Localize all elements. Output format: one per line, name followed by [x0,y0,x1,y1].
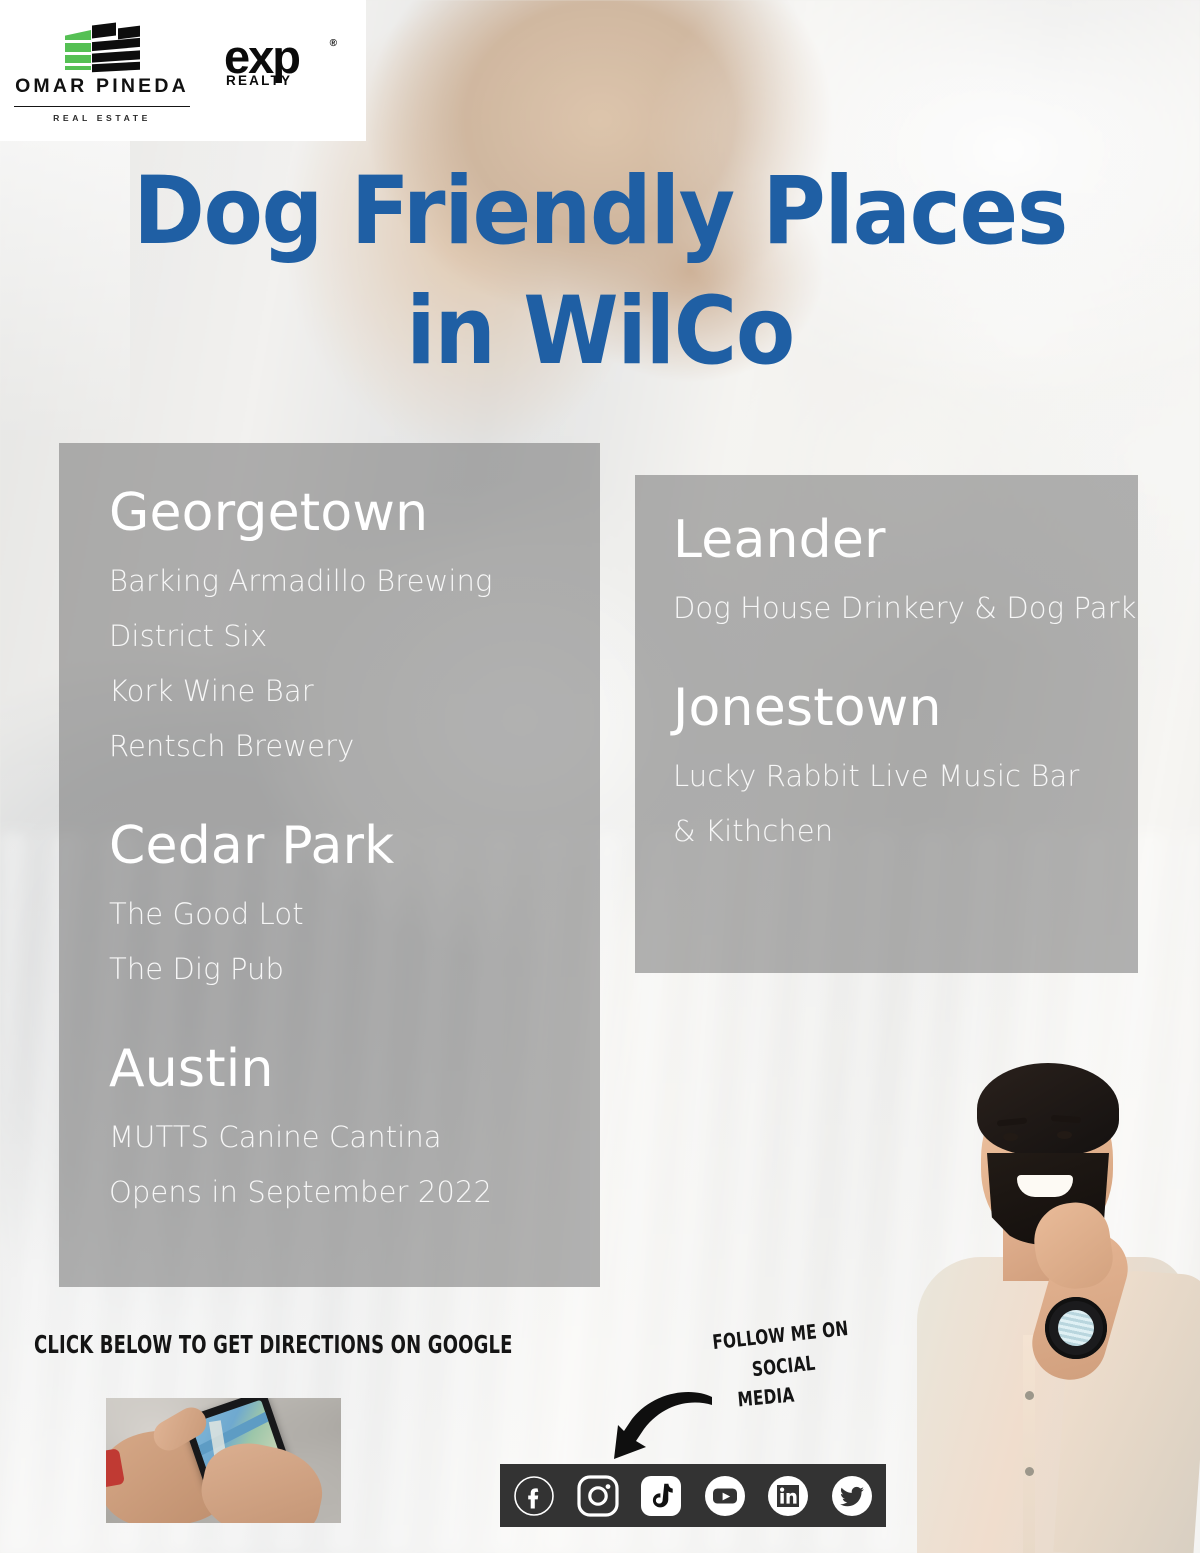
social-links-bar [500,1464,886,1527]
left-listing-panel: Georgetown Barking Armadillo Brewing Dis… [59,443,600,1287]
city-group-jonestown: Jonestown Lucky Rabbit Live Music Bar & … [673,681,1138,846]
youtube-icon[interactable] [702,1473,748,1519]
page-title-line-1: Dog Friendly Places [133,157,1067,266]
exp-realty-logo: exp® REALTY [224,38,328,88]
place-item: The Dig Pub [109,955,600,984]
city-heading: Cedar Park [109,819,600,874]
exp-wordmark-text: exp [224,30,299,83]
place-item: The Good Lot [109,900,600,929]
agent-portrait-photo [895,1035,1200,1553]
city-heading: Leander [673,513,1138,568]
twitter-icon[interactable] [829,1473,875,1519]
building-icon [65,22,139,70]
poster-canvas: OMAR PINEDA REAL ESTATE exp® REALTY Dog … [0,0,1200,1553]
city-heading: Georgetown [109,486,600,541]
omar-pineda-wordmark: OMAR PINEDA [15,77,189,97]
omar-pineda-tagline: REAL ESTATE [53,113,151,123]
city-group-georgetown: Georgetown Barking Armadillo Brewing Dis… [109,486,600,761]
place-item: & Kithchen [673,817,1138,846]
place-item: District Six [109,622,600,651]
place-item: Opens in September 2022 [109,1178,600,1207]
directions-cta-label: CLICK BELOW TO GET DIRECTIONS ON GOOGLE [34,1330,513,1359]
page-title: Dog Friendly Places in WilCo [48,152,1152,393]
city-heading: Jonestown [673,681,1138,736]
place-item: Kork Wine Bar [109,677,600,706]
logo-divider [14,106,190,107]
right-listing-panel: Leander Dog House Drinkery & Dog Park Jo… [635,475,1138,973]
place-item: MUTTS Canine Cantina [109,1123,600,1152]
page-title-line-2: in WilCo [48,272,1152,392]
place-item: Rentsch Brewery [109,732,600,761]
exp-wordmark: exp® [224,38,328,77]
omar-pineda-logo: OMAR PINEDA REAL ESTATE [14,22,190,123]
tiktok-icon[interactable] [638,1473,684,1519]
city-group-austin: Austin MUTTS Canine Cantina Opens in Sep… [109,1042,600,1207]
facebook-icon[interactable] [511,1473,557,1519]
city-group-cedar-park: Cedar Park The Good Lot The Dig Pub [109,819,600,984]
logo-bar: OMAR PINEDA REAL ESTATE exp® REALTY [0,0,366,141]
city-heading: Austin [109,1042,600,1097]
city-group-leander: Leander Dog House Drinkery & Dog Park [673,513,1138,623]
instagram-icon[interactable] [575,1473,621,1519]
place-item: Dog House Drinkery & Dog Park [673,594,1138,623]
place-item: Lucky Rabbit Live Music Bar [673,762,1138,791]
place-item: Barking Armadillo Brewing [109,567,600,596]
google-directions-thumbnail[interactable] [106,1398,341,1523]
registered-mark-icon: ® [330,40,335,48]
linkedin-icon[interactable] [765,1473,811,1519]
